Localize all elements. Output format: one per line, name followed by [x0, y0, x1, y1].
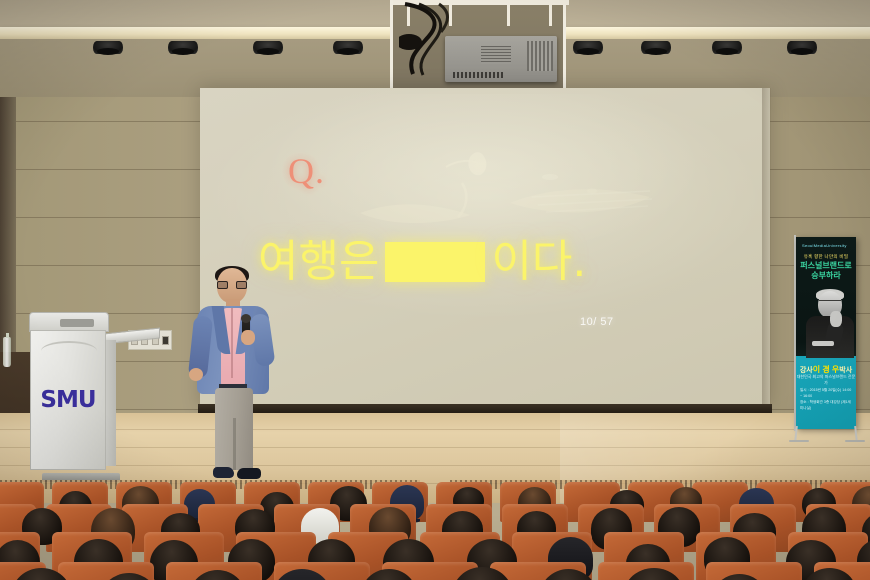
- banner-schedule-line1: 일시 : 2015년 5월 20일(수) 14:00 ~ 16:00: [800, 387, 852, 399]
- projector-body: [445, 36, 557, 82]
- banner-tagline: 유혹 향한 나만의 비밀: [796, 254, 856, 260]
- banner-schedule-line2: 장소 : 학생회관 3층 대강당 (제1세미나실): [800, 399, 852, 411]
- projector-port-strip: [453, 72, 503, 78]
- audience-seating: DIGHT: [0, 470, 870, 580]
- speaker-pants: [215, 388, 253, 470]
- slide-text-before: 여행은: [258, 237, 379, 287]
- spotlight-2-icon: [168, 41, 198, 54]
- screen-bottom-frame: [198, 404, 772, 413]
- screen-glow: [268, 94, 701, 254]
- slide-main-text: 여행은 이다.: [258, 233, 718, 291]
- speaker-hand-left: [189, 368, 203, 381]
- projector-mount-cage: [390, 0, 566, 98]
- podium: SMU: [22, 312, 120, 482]
- banner-foot-left: [789, 440, 809, 442]
- banner-photo-glasses-icon: [819, 300, 841, 306]
- slide-text-after: 이다.: [491, 237, 586, 287]
- slide-page-number: 10/ 57: [580, 316, 614, 328]
- banner-photo-hand: [830, 311, 842, 327]
- podium-logo: SMU: [31, 387, 105, 413]
- projector-label: [481, 46, 511, 64]
- slide-blank-highlight: [385, 242, 485, 282]
- screen-right-edge: [762, 88, 771, 408]
- projection-screen: Q. 여행은 이다. 10/ 57: [200, 88, 770, 408]
- podium-body: SMU: [30, 330, 106, 470]
- banner-speaker-suffix: 박사: [839, 367, 852, 374]
- speaker-glasses-icon: [217, 281, 247, 289]
- banner-headline: 퍼스널브랜드로 승부하라: [796, 261, 856, 281]
- banner-speaker-name: 이 경 우: [813, 365, 840, 374]
- banner-schedule: 일시 : 2015년 5월 20일(수) 14:00 ~ 16:00 장소 : …: [800, 387, 852, 411]
- spotlight-7-icon: [712, 41, 742, 54]
- speaker: [193, 268, 275, 486]
- speaker-hand-right: [241, 330, 255, 345]
- banner-photo-cuff: [812, 341, 834, 346]
- banner-speaker-photo: [802, 289, 856, 357]
- auditorium-photo: Q. 여행은 이다. 10/ 57 SMU: [0, 0, 870, 580]
- event-banner: SeoulMediaUniversity 유혹 향한 나만의 비밀 퍼스널브랜드…: [793, 237, 859, 442]
- water-bottle: [3, 337, 11, 367]
- projector-rod-3: [507, 0, 510, 26]
- podium-curve-detail: [41, 341, 97, 353]
- spotlight-1-icon: [93, 41, 123, 54]
- spotlight-8-icon: [787, 41, 817, 54]
- banner-logo: SeoulMediaUniversity: [802, 243, 847, 248]
- projector-vent: [527, 41, 553, 71]
- slide-question-mark: Q.: [288, 150, 325, 192]
- banner-speaker-prefix: 강사: [800, 367, 813, 374]
- banner-headline-line1: 퍼스널브랜드로: [796, 261, 856, 271]
- podium-top-slot: [60, 319, 94, 327]
- banner-headline-line2: 승부하라: [796, 271, 856, 281]
- projector-rod-4: [549, 0, 552, 26]
- spotlight-3-icon: [253, 41, 283, 54]
- podium-top: [29, 312, 109, 332]
- banner-cloth: SeoulMediaUniversity 유혹 향한 나만의 비밀 퍼스널브랜드…: [796, 237, 856, 429]
- spotlight-6-icon: [641, 41, 671, 54]
- spotlight-4-icon: [333, 41, 363, 54]
- spotlight-5-icon: [573, 41, 603, 54]
- banner-speaker-role: 대한민국 최고의 퍼스널브랜드 전문가: [796, 374, 856, 386]
- banner-foot-right: [845, 440, 865, 442]
